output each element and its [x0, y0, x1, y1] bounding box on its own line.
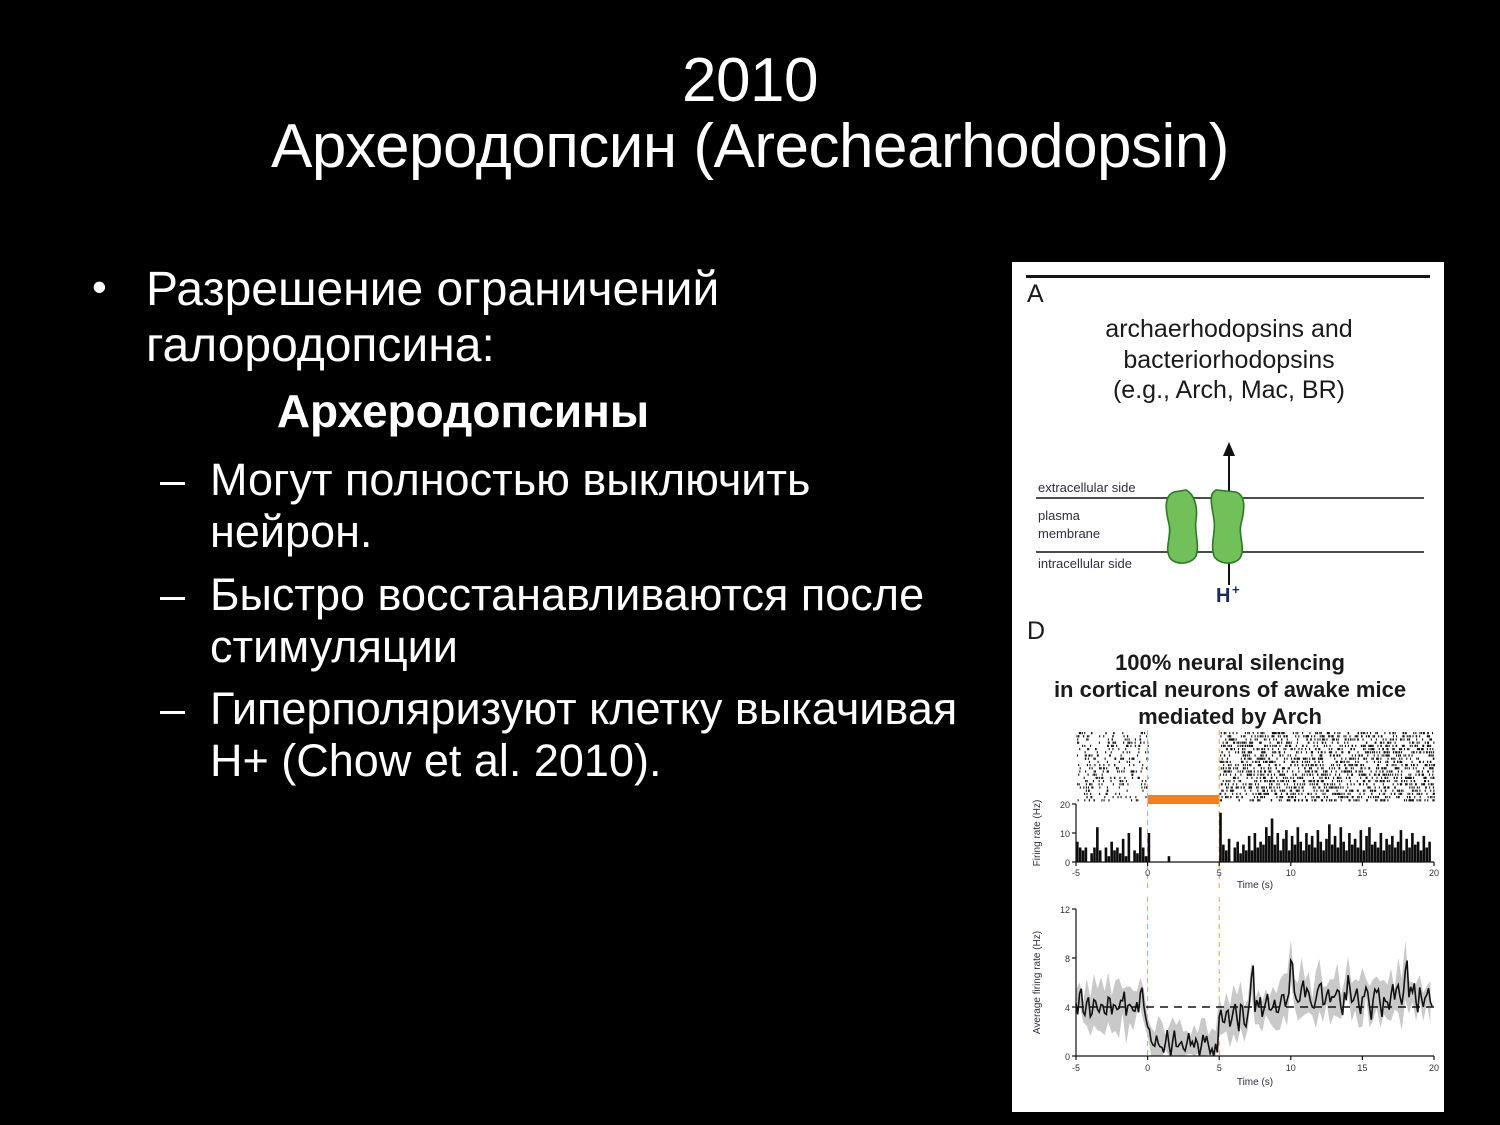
svg-text:12: 12	[1060, 905, 1070, 915]
sub-bullet-list: – Могут полностью выключить нейрон. – Бы…	[78, 454, 978, 787]
svg-text:8: 8	[1065, 954, 1070, 964]
svg-text:4: 4	[1065, 1003, 1070, 1013]
svg-text:10: 10	[1286, 868, 1296, 878]
panel-d-caption-line-1: 100% neural silencing	[1030, 650, 1430, 677]
center-heading: Археродопсины	[78, 385, 978, 438]
proton-flow-arrow-head	[1223, 442, 1235, 456]
svg-text:Time (s): Time (s)	[1237, 880, 1273, 890]
panel-d-caption-line-3: mediated by Arch	[1030, 704, 1430, 731]
panel-a-caption-line-3: (e.g., Arch, Mac, BR)	[1034, 375, 1424, 406]
figure-top-rule	[1026, 275, 1430, 278]
svg-text:-5: -5	[1072, 868, 1080, 878]
stimulus-bar	[1148, 795, 1220, 804]
svg-text:0: 0	[1065, 858, 1070, 868]
svg-text:15: 15	[1357, 868, 1367, 878]
sub-bullet-1-text: Могут полностью выключить нейрон.	[210, 454, 811, 557]
sub-bullet-3: – Гиперполяризуют клетку выкачивая H+ (C…	[160, 683, 978, 787]
svg-text:5: 5	[1217, 1063, 1222, 1073]
figure-panel: A archaerhodopsins and bacteriorhodopsin…	[1012, 262, 1444, 1112]
title-year: 2010	[0, 48, 1500, 114]
title-name: Археродопсин (Arechearhodopsin)	[0, 114, 1500, 180]
main-bullet: • Разрешение ограничений галородопсина:	[78, 262, 978, 373]
panel-a-caption-line-1: archaerhodopsins and	[1034, 314, 1424, 345]
dash-marker-icon: –	[160, 569, 185, 621]
svg-text:Average firing rate (Hz): Average firing rate (Hz)	[1032, 931, 1043, 1034]
pump-protein-left-icon	[1166, 490, 1197, 563]
slide-body: • Разрешение ограничений галородопсина: …	[78, 262, 978, 797]
panel-label-d: D	[1027, 617, 1045, 646]
bullet-dot-icon: •	[92, 263, 107, 312]
svg-text:5: 5	[1217, 868, 1222, 878]
average-firing-rate-chart: 04812-505101520Time (s)Average firing ra…	[1028, 897, 1440, 1092]
sub-bullet-1: – Могут полностью выключить нейрон.	[160, 454, 978, 558]
panel-a-caption: archaerhodopsins and bacteriorhodopsins …	[1034, 314, 1424, 406]
plasma-membrane-label-line-1: plasma	[1038, 508, 1081, 523]
standard-error-band	[1076, 940, 1430, 1056]
panel-d-caption-line-2: in cortical neurons of awake mice	[1030, 677, 1430, 704]
plasma-membrane-label-line-2: membrane	[1038, 526, 1100, 541]
svg-text:0: 0	[1065, 1052, 1070, 1062]
svg-text:10: 10	[1060, 829, 1070, 839]
sub-bullet-3-text: Гиперполяризуют клетку выкачивая H+ (Cho…	[210, 683, 957, 786]
sub-bullet-2-text: Быстро восстанавливаются после стимуляци…	[210, 569, 924, 672]
sub-bullet-2: – Быстро восстанавливаются после стимуля…	[160, 569, 978, 673]
dash-marker-icon: –	[160, 454, 185, 506]
proton-charge-label: +	[1232, 582, 1240, 597]
firing-rate-bars	[1076, 813, 1431, 862]
panel-d-caption: 100% neural silencing in cortical neuron…	[1030, 650, 1430, 730]
svg-text:10: 10	[1286, 1063, 1296, 1073]
main-bullet-text: Разрешение ограничений галородопсина:	[146, 263, 719, 372]
page-title: 2010 Археродопсин (Arechearhodopsin)	[0, 48, 1500, 179]
single-unit-firing-rate-chart: 01020-505101520Time (s)Firing rate (Hz)	[1028, 730, 1440, 890]
svg-text:Time (s): Time (s)	[1237, 1077, 1273, 1088]
extracellular-side-label: extracellular side	[1038, 480, 1136, 495]
intracellular-side-label: intracellular side	[1038, 556, 1132, 571]
membrane-diagram: extracellular side plasma membrane intra…	[1024, 440, 1434, 605]
svg-text:-5: -5	[1072, 1063, 1080, 1073]
svg-text:20: 20	[1429, 1063, 1439, 1073]
svg-text:0: 0	[1145, 1063, 1150, 1073]
dash-marker-icon: –	[160, 683, 185, 735]
svg-text:20: 20	[1429, 868, 1439, 878]
proton-label: H	[1216, 585, 1230, 605]
panel-a-caption-line-2: bacteriorhodopsins	[1034, 345, 1424, 376]
svg-text:15: 15	[1357, 1063, 1367, 1073]
svg-text:0: 0	[1145, 868, 1150, 878]
svg-text:20: 20	[1060, 800, 1070, 810]
svg-text:Firing rate (Hz): Firing rate (Hz)	[1032, 800, 1043, 867]
pump-protein-right-icon	[1211, 490, 1244, 563]
firing-rate-axis-labels: 01020-505101520Time (s)Firing rate (Hz)	[1032, 800, 1439, 890]
panel-label-a: A	[1027, 280, 1044, 309]
spike-raster-plot	[1076, 732, 1435, 801]
